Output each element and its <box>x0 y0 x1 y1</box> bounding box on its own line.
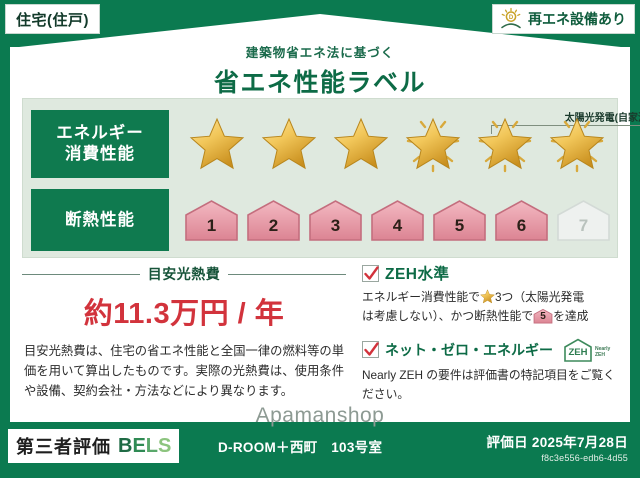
rule-right <box>228 274 346 275</box>
star-icon <box>477 117 533 171</box>
zeh-standard-title: ZEH水準 <box>385 262 450 284</box>
renewable-equipment-label: 再エネ設備あり <box>528 9 626 29</box>
zeh-house-logo-icon: ZEH <box>563 338 593 362</box>
zeh-text-starcount: 3つ（太陽光発電 <box>495 290 584 304</box>
evaluation-date: 評価日 2025年7月28日 <box>486 431 628 451</box>
zeh-netzero-heading: ネット・ゼロ・エネルギー ZEH Nearly ZEH <box>362 338 618 362</box>
energy-performance-row: エネルギー 消費性能 太陽光発電(自家消費)分 <box>23 105 619 183</box>
star-slot-solar <box>543 111 611 177</box>
energy-cost-value: 約11.3万円 / 年 <box>22 290 346 332</box>
svg-text:D: D <box>509 15 514 21</box>
zeh-text-part2: は考慮しない）、かつ断熱性能で <box>362 309 533 323</box>
bels-en-label: BELS <box>118 435 171 458</box>
star-icon <box>405 117 461 171</box>
bels-badge: 第三者評価 BELS <box>8 429 179 463</box>
insulation-level-5: 5 <box>431 199 488 241</box>
energy-performance-label: エネルギー 消費性能 <box>31 110 169 178</box>
performance-panel: エネルギー 消費性能 太陽光発電(自家消費)分 <box>22 98 618 258</box>
star-icon <box>261 117 317 171</box>
sun-icon: D <box>498 7 524 31</box>
building-type-label: 住宅(住戸) <box>16 9 89 30</box>
insulation-level-3: 3 <box>307 199 364 241</box>
renewable-equipment-chip: D 再エネ設備あり <box>492 4 635 34</box>
star-slot <box>183 111 251 177</box>
insulation-performance-label: 断熱性能 <box>31 189 169 251</box>
zeh-logo-caption: Nearly ZEH <box>595 347 610 362</box>
evaluation-id: f8c3e556-edb6-4d55 <box>486 453 628 463</box>
house-icon-inline: 5 <box>533 308 553 324</box>
insulation-level-scale: 1 2 3 4 <box>169 199 619 241</box>
zeh-standard-text: エネルギー消費性能で3つ（太陽光発電は考慮しない）、かつ断熱性能で5を達成 <box>362 288 618 326</box>
label-frame: 住宅(住戸) D 再エネ設備あり <box>0 0 640 478</box>
top-bar: 住宅(住戸) D 再エネ設備あり <box>0 0 640 40</box>
page-title: 省エネ性能ラベル <box>10 63 630 99</box>
zeh-netzero-title: ネット・ゼロ・エネルギー <box>385 340 553 360</box>
building-type-chip: 住宅(住戸) <box>5 4 100 34</box>
bels-jp-label: 第三者評価 <box>16 433 111 459</box>
star-icon-inline <box>480 289 495 304</box>
star-slot-solar <box>471 111 539 177</box>
star-icon <box>189 117 245 171</box>
star-slot-solar <box>399 111 467 177</box>
insulation-level-6: 6 <box>493 199 550 241</box>
insulation-level-7: 7 <box>555 199 612 241</box>
star-icon <box>333 117 389 171</box>
energy-cost-column: 目安光熱費 約11.3万円 / 年 目安光熱費は、住宅の省エネ性能と全国一律の燃… <box>22 262 346 404</box>
zeh-standard-heading: ZEH水準 <box>362 262 618 284</box>
zeh-text-part3: を達成 <box>553 309 588 323</box>
evaluation-info: 評価日 2025年7月28日 f8c3e556-edb6-4d55 <box>486 431 628 463</box>
lower-section: 目安光熱費 約11.3万円 / 年 目安光熱費は、住宅の省エネ性能と全国一律の燃… <box>22 262 618 404</box>
title-subtitle: 建築物省エネ法に基づく <box>10 42 630 61</box>
star-slot <box>255 111 323 177</box>
zeh-standard-block: ZEH水準 エネルギー消費性能で3つ（太陽光発電は考慮しない）、かつ断熱性能で5… <box>362 262 618 326</box>
star-slot <box>327 111 395 177</box>
energy-cost-note: 目安光熱費は、住宅の省エネ性能と全国一律の燃料等の単価を用いて算出したものです。… <box>22 342 346 402</box>
rule-left <box>22 274 140 275</box>
property-name: D-ROOM＋西町 103号室 <box>218 436 382 456</box>
check-icon <box>362 265 379 282</box>
star-icon <box>549 117 605 171</box>
energy-cost-title: 目安光熱費 <box>148 264 221 284</box>
insulation-performance-row: 断熱性能 1 2 <box>23 189 619 251</box>
insulation-level-2: 2 <box>245 199 302 241</box>
footer-bar: 第三者評価 BELS D-ROOM＋西町 103号室 評価日 2025年7月28… <box>0 422 640 478</box>
title-block: 建築物省エネ法に基づく 省エネ性能ラベル <box>10 42 630 99</box>
insulation-level-1: 1 <box>183 199 240 241</box>
zeh-column: ZEH水準 エネルギー消費性能で3つ（太陽光発電は考慮しない）、かつ断熱性能で5… <box>362 262 618 404</box>
check-icon <box>362 341 379 358</box>
zeh-netzero-block: ネット・ゼロ・エネルギー ZEH Nearly ZEH Nearly ZEH の… <box>362 338 618 404</box>
house-icon-inline-level: 5 <box>533 309 553 325</box>
svg-text:ZEH: ZEH <box>569 347 588 358</box>
insulation-level-4: 4 <box>369 199 426 241</box>
energy-cost-heading: 目安光熱費 <box>22 264 346 284</box>
zeh-netzero-text: Nearly ZEH の要件は評価書の特記項目をご覧ください。 <box>362 366 618 404</box>
energy-star-rating: 太陽光発電(自家消費)分 <box>169 111 619 177</box>
zeh-text-part1: エネルギー消費性能で <box>362 290 480 304</box>
zeh-logo: ZEH Nearly ZEH <box>563 338 610 362</box>
